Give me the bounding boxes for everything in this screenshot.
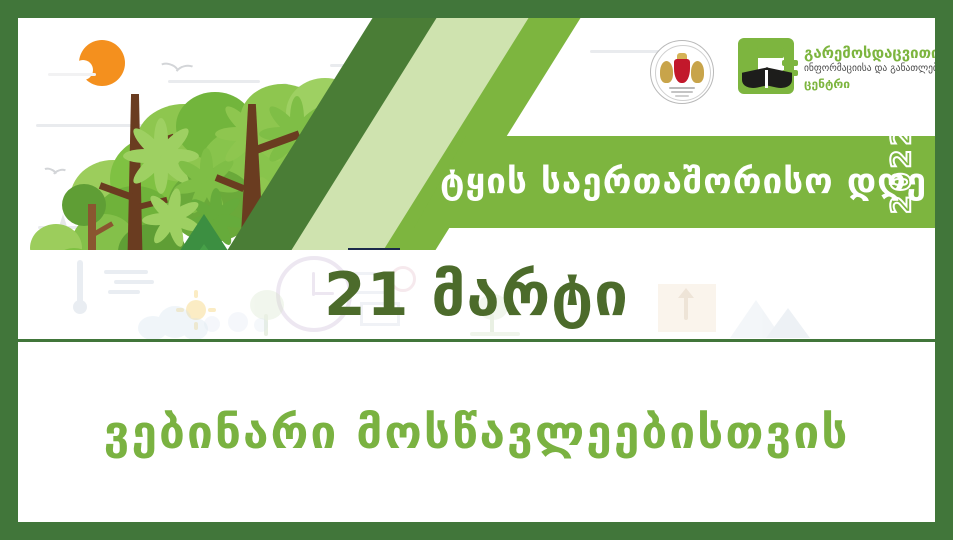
tree-foliage xyxy=(62,184,106,226)
poster-canvas: ტყის საერთაშორისო დღე 2022 xyxy=(18,18,935,522)
banner-title: ტყის საერთაშორისო დღე xyxy=(440,151,900,213)
eiec-logo-mark-icon xyxy=(738,38,798,98)
bottom-panel: ვებინარი მოსწავლეებისთვის xyxy=(18,342,935,522)
logo-line-2: ინფორმაციისა და განათლების xyxy=(804,63,935,74)
bird-icon xyxy=(156,63,196,81)
sun-ray xyxy=(48,73,96,76)
date-strip: 21 მარტი xyxy=(18,250,935,340)
logo-line-3: ცენტრი xyxy=(804,77,850,91)
bird-icon xyxy=(40,168,68,182)
banner-year: 2022 xyxy=(870,150,934,214)
georgia-state-emblem-icon xyxy=(650,40,714,104)
sun-notch xyxy=(73,60,93,80)
logo-line-1: გარემოსდაცვითი xyxy=(804,44,935,62)
poster-frame: ტყის საერთაშორისო დღე 2022 xyxy=(0,0,953,540)
date-headline: 21 მარტი xyxy=(18,258,935,332)
webinar-headline: ვებინარი მოსწავლეებისთვის xyxy=(18,404,935,460)
